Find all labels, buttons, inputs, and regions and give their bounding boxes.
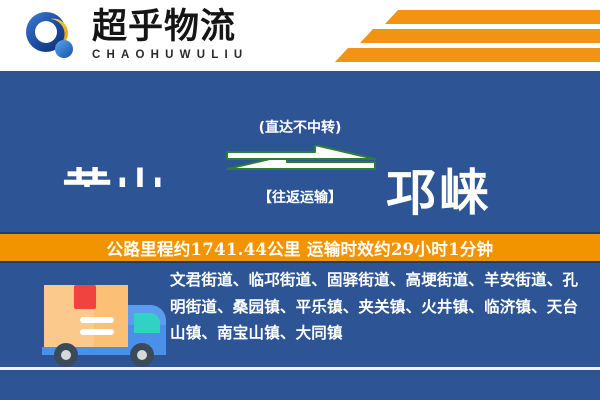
distance-duration-text: 公路里程约1741.44公里 运输时效约29小时1分钟 [107,236,494,260]
header-bar: 超乎物流 CHAOHUWULIU [0,0,600,71]
brand-block: 超乎物流 CHAOHUWULIU [92,7,282,61]
brand-name-cn: 超乎物流 [92,7,282,47]
coverage-panel: 文君街道、临邛街道、固驿街道、高埂街道、羊安街道、孔明街道、桑园镇、平乐镇、夹关… [0,263,600,400]
route-info-bar: 公路里程约1741.44公里 运输时效约29小时1分钟 [0,232,600,263]
delivery-truck-icon [38,271,186,371]
destination-city: 邛崃 [386,153,492,225]
route-panel: 黄山 (直达不中转) 【往返运输】 邛崃 [0,71,600,232]
ground-line [0,367,600,370]
circle-crescent-logo-icon [24,10,80,62]
logistics-route-poster: 超乎物流 CHAOHUWULIU 黄山 (直达不中转) 【往返运输】 邛崃 公路… [0,0,600,400]
stripe-1 [385,10,600,24]
double-headed-arrow-icon [225,145,377,183]
stripe-3 [335,48,600,62]
stripe-2 [360,29,600,43]
orange-speed-stripes-icon [330,8,600,64]
brand-name-en: CHAOHUWULIU [92,49,282,61]
coverage-areas-text: 文君街道、临邛街道、固驿街道、高埂街道、羊安街道、孔明街道、桑园镇、平乐镇、夹关… [170,267,588,347]
direct-transport-note: (直达不中转) [215,117,385,137]
